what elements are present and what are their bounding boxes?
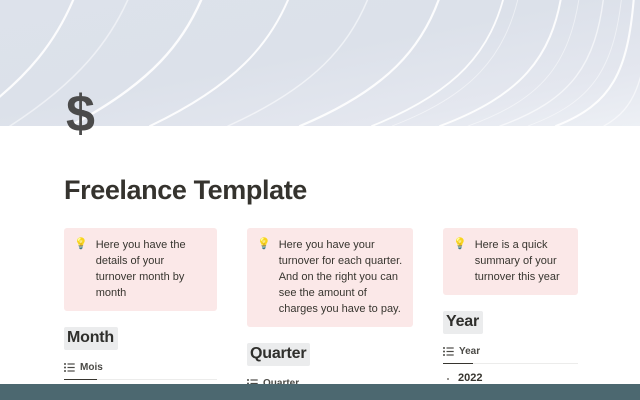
- tab-mois[interactable]: Mois: [64, 361, 103, 379]
- bottom-bar: [0, 384, 640, 400]
- dollar-sign-icon[interactable]: $: [66, 88, 94, 140]
- light-bulb-icon: 💡: [257, 237, 271, 252]
- list-item[interactable]: 2022: [443, 364, 578, 386]
- callout-text: Here you have the details of your turnov…: [96, 237, 207, 301]
- tab-label: Year: [459, 345, 480, 358]
- tab-underline: [64, 379, 217, 380]
- callout-year[interactable]: 💡 Here is a quick summary of your turnov…: [443, 228, 578, 295]
- column-layout: 💡 Here you have the details of your turn…: [64, 228, 584, 396]
- cover-image[interactable]: [0, 0, 640, 126]
- tab-label: Mois: [80, 361, 103, 374]
- column-year: 💡 Here is a quick summary of your turnov…: [443, 228, 578, 396]
- cover-artwork: [0, 0, 640, 126]
- column-quarter: 💡 Here you have your turnover for each q…: [247, 228, 413, 396]
- callout-month[interactable]: 💡 Here you have the details of your turn…: [64, 228, 217, 311]
- database-tabs-month: Mois: [64, 359, 217, 380]
- callout-text: Here you have your turnover for each qua…: [279, 237, 403, 317]
- heading-quarter[interactable]: Quarter: [247, 343, 310, 366]
- bullet-icon: [447, 378, 449, 380]
- heading-year[interactable]: Year: [443, 311, 483, 334]
- light-bulb-icon: 💡: [74, 237, 88, 252]
- list-view-icon: [64, 363, 75, 372]
- tab-underline: [443, 363, 578, 364]
- heading-month[interactable]: Month: [64, 327, 118, 350]
- page-title[interactable]: Freelance Template: [64, 174, 307, 206]
- column-month: 💡 Here you have the details of your turn…: [64, 228, 217, 396]
- tab-year[interactable]: Year: [443, 345, 480, 363]
- light-bulb-icon: 💡: [453, 237, 467, 252]
- callout-text: Here is a quick summary of your turnover…: [475, 237, 568, 285]
- callout-quarter[interactable]: 💡 Here you have your turnover for each q…: [247, 228, 413, 327]
- list-view-icon: [443, 347, 454, 356]
